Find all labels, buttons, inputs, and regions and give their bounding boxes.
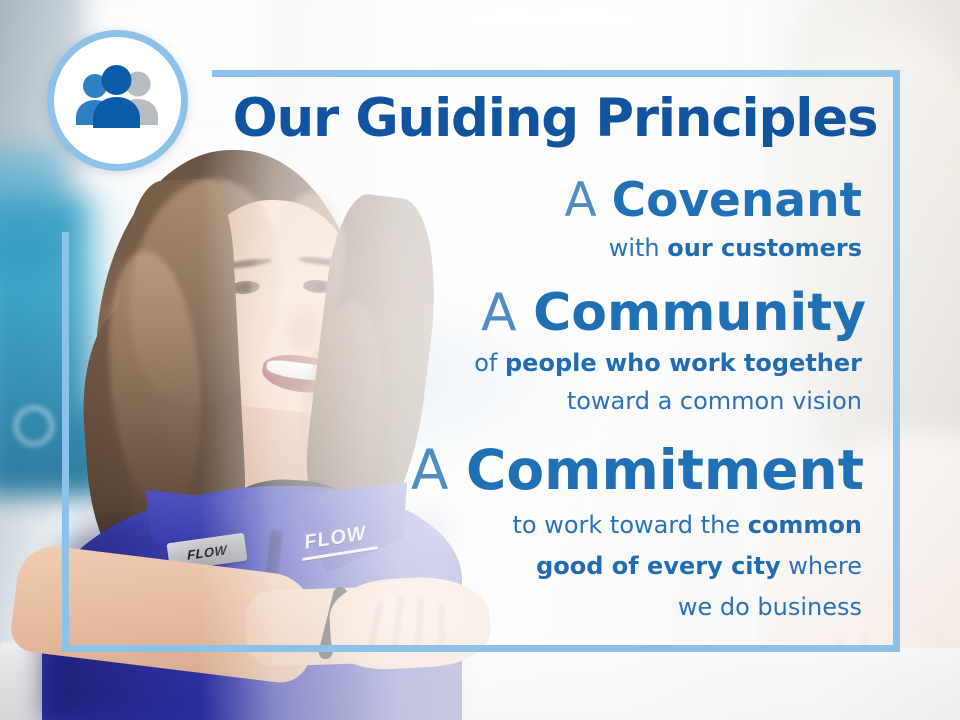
principle-subtext-line: toward a common vision <box>200 386 862 417</box>
subtext-plain: of <box>474 349 505 377</box>
subtext-plain: to work toward the <box>513 511 748 539</box>
frame-top-edge <box>212 70 900 77</box>
principle-subtext-line: we do business <box>200 592 862 623</box>
principle-keyword: Community <box>533 283 866 343</box>
subtext-emphasis: good of every city <box>536 552 781 580</box>
principle-subtext-line: with our customers <box>200 233 862 264</box>
principle-heading: A Commitment <box>200 441 864 499</box>
subtext-plain: where <box>781 552 862 580</box>
subtext-plain: we do business <box>678 593 862 621</box>
principle-subtext-line: of people who work together <box>200 348 862 379</box>
principles-list: A Covenantwith our customersA Communityo… <box>200 176 900 629</box>
subtext-emphasis: common <box>748 511 862 539</box>
principle-subtext-line: good of every city where <box>200 551 862 582</box>
principle-keyword: Covenant <box>612 173 862 228</box>
principle-keyword: Commitment <box>466 438 864 502</box>
principle-heading: A Community <box>200 286 866 341</box>
principle-article: A <box>565 173 612 228</box>
principle-article: A <box>481 283 533 343</box>
subtext-emphasis: our customers <box>667 234 862 262</box>
principle-heading: A Covenant <box>200 176 862 226</box>
principle-commitment: A Commitmentto work toward the commongoo… <box>200 441 862 623</box>
frame-bottom-edge <box>62 645 900 652</box>
principle-article: A <box>411 438 466 502</box>
page-title: Our Guiding Principles <box>210 92 900 145</box>
subtext-plain: toward a common vision <box>567 387 862 415</box>
people-group-icon <box>70 64 166 138</box>
subtext-emphasis: people who work together <box>505 349 862 377</box>
principle-covenant: A Covenantwith our customers <box>200 176 862 264</box>
principle-community: A Communityof people who work togetherto… <box>200 286 862 417</box>
frame-left-edge <box>62 232 69 652</box>
guiding-principles-graphic: FLOW FLOW <box>0 0 960 720</box>
people-group-badge <box>47 30 188 171</box>
subtext-plain: with <box>609 234 668 262</box>
principle-subtext-line: to work toward the common <box>200 510 862 541</box>
